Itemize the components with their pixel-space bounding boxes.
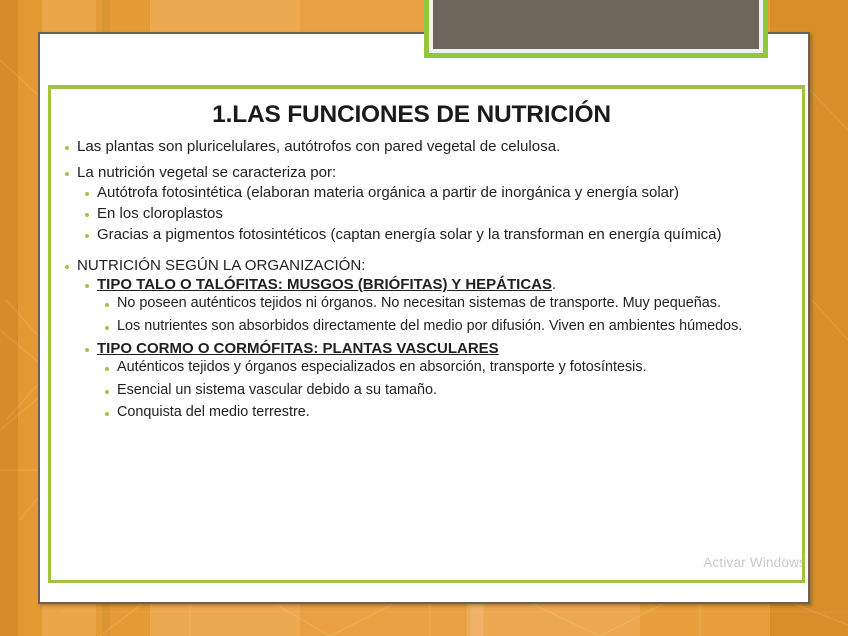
- picture-mat: [429, 0, 763, 53]
- list-item-text: Autótrofa fotosintética (elaboran materi…: [97, 184, 802, 202]
- list-item-text: TIPO CORMO O CORMÓFITAS: PLANTAS VASCULA…: [97, 340, 802, 358]
- bullet-dot-icon: [85, 284, 89, 288]
- picture-placeholder-image: [433, 0, 759, 49]
- list-item: En los cloroplastos: [51, 205, 802, 223]
- list-item: La nutrición vegetal se caracteriza por:: [51, 164, 802, 182]
- content-box: 1.LAS FUNCIONES DE NUTRICIÓN Las plantas…: [48, 85, 805, 583]
- activate-windows-watermark: Activar Windows: [703, 555, 805, 570]
- list-item: Conquista del medio terrestre.: [51, 404, 802, 421]
- bullet-dot-icon: [105, 367, 109, 371]
- list-item-text: Los nutrientes son absorbidos directamen…: [117, 318, 802, 335]
- bullet-dot-icon: [85, 234, 89, 238]
- bullet-dot-icon: [85, 213, 89, 217]
- emphasis-text: TIPO CORMO O CORMÓFITAS: PLANTAS VASCULA…: [97, 340, 499, 357]
- bullet-list: Las plantas son pluricelulares, autótrof…: [51, 138, 802, 422]
- list-item-text: TIPO TALO O TALÓFITAS: MUSGOS (BRIÓFITAS…: [97, 276, 802, 294]
- bullet-dot-icon: [105, 412, 109, 416]
- list-item-heading: TIPO CORMO O CORMÓFITAS: PLANTAS VASCULA…: [51, 340, 802, 358]
- list-item-text: Esencial un sistema vascular debido a su…: [117, 382, 802, 399]
- list-item-text: En los cloroplastos: [97, 205, 802, 223]
- list-item: Gracias a pigmentos fotosintéticos (capt…: [51, 226, 802, 244]
- list-item: Los nutrientes son absorbidos directamen…: [51, 318, 802, 335]
- picture-frame: [424, 0, 768, 58]
- bullet-dot-icon: [105, 390, 109, 394]
- list-item-text: Auténticos tejidos y órganos especializa…: [117, 359, 802, 376]
- bullet-dot-icon: [85, 192, 89, 196]
- list-item: Autótrofa fotosintética (elaboran materi…: [51, 184, 802, 202]
- bullet-dot-icon: [105, 326, 109, 330]
- bullet-dot-icon: [85, 348, 89, 352]
- list-item-text: Conquista del medio terrestre.: [117, 404, 802, 421]
- list-item-text: Gracias a pigmentos fotosintéticos (capt…: [97, 226, 802, 244]
- bullet-dot-icon: [65, 265, 69, 269]
- bullet-dot-icon: [105, 303, 109, 307]
- list-item: NUTRICIÓN SEGÚN LA ORGANIZACIÓN:: [51, 257, 802, 275]
- list-item-text: La nutrición vegetal se caracteriza por:: [77, 164, 802, 182]
- list-item: Esencial un sistema vascular debido a su…: [51, 382, 802, 399]
- list-item-text: Las plantas son pluricelulares, autótrof…: [77, 138, 802, 156]
- list-item: Auténticos tejidos y órganos especializa…: [51, 359, 802, 376]
- bullet-dot-icon: [65, 172, 69, 176]
- trailing-punctuation: .: [552, 276, 556, 293]
- slide-title: 1.LAS FUNCIONES DE NUTRICIÓN: [48, 101, 802, 129]
- list-item: Las plantas son pluricelulares, autótrof…: [51, 138, 802, 156]
- list-item: No poseen auténticos tejidos ni órganos.…: [51, 295, 802, 312]
- emphasis-text: TIPO TALO O TALÓFITAS: MUSGOS (BRIÓFITAS…: [97, 276, 552, 293]
- list-item-text: NUTRICIÓN SEGÚN LA ORGANIZACIÓN:: [77, 257, 802, 275]
- list-item-heading: TIPO TALO O TALÓFITAS: MUSGOS (BRIÓFITAS…: [51, 276, 802, 294]
- bullet-dot-icon: [65, 146, 69, 150]
- list-item-text: No poseen auténticos tejidos ni órganos.…: [117, 295, 802, 312]
